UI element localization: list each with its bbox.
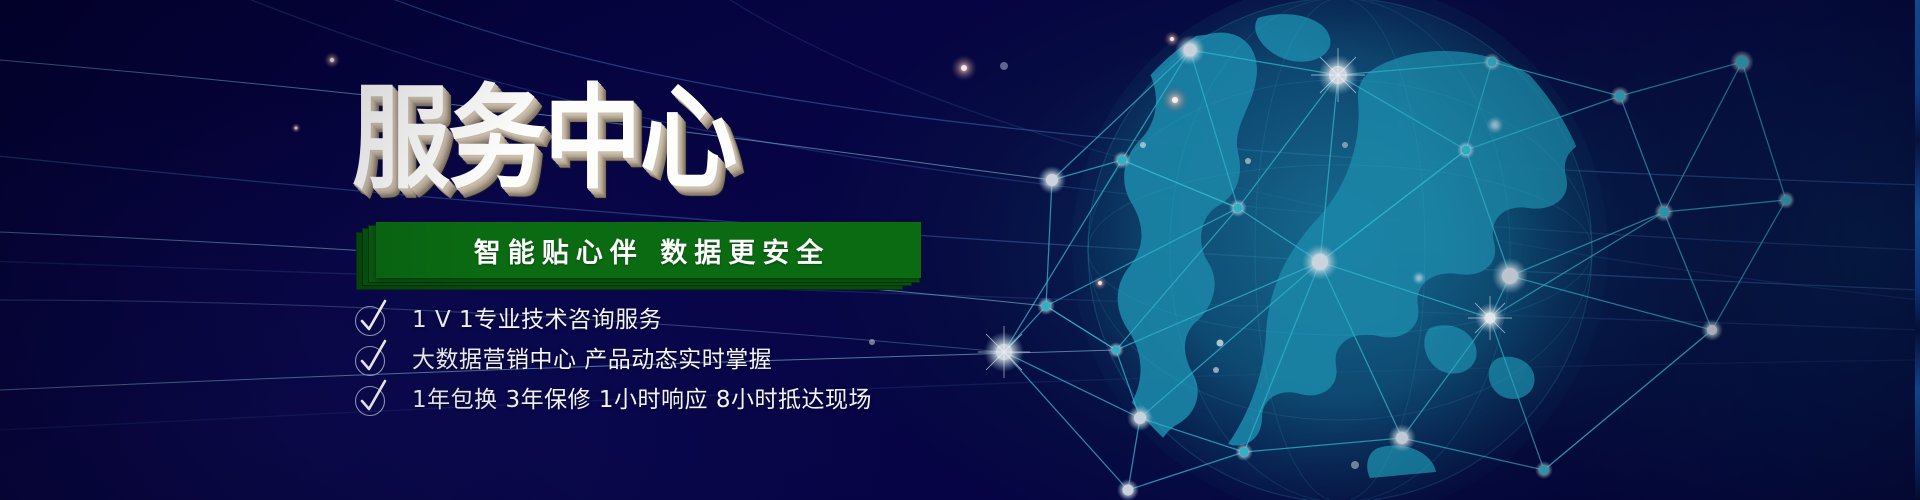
slogan-text: 智能贴心伴 数据更安全: [467, 231, 830, 270]
circled-check-icon: [356, 343, 390, 377]
list-item: 1 V 1专业技术咨询服务: [356, 300, 872, 340]
page-title: 服务中心: [352, 82, 736, 195]
circled-check-icon: [356, 383, 390, 417]
circled-check-icon: [356, 303, 390, 337]
list-item: 1年包换 3年保修 1小时响应 8小时抵达现场: [356, 380, 872, 420]
list-item-label: 1 V 1专业技术咨询服务: [412, 309, 662, 332]
list-item: 大数据营销中心 产品动态实时掌握: [356, 340, 872, 380]
banner-content: 服务中心 智能贴心伴 数据更安全 1 V 1专业技术咨询服务: [0, 0, 1000, 500]
feature-list: 1 V 1专业技术咨询服务 大数据营销中心 产品动态实时掌握: [356, 300, 872, 420]
edge-accent-strip: [1915, 0, 1920, 500]
service-center-banner: 服务中心 智能贴心伴 数据更安全 1 V 1专业技术咨询服务: [0, 0, 1920, 500]
radial-bars-region: [1500, 0, 1920, 500]
list-item-label: 1年包换 3年保修 1小时响应 8小时抵达现场: [412, 389, 872, 412]
slogan-bar: 智能贴心伴 数据更安全: [376, 222, 921, 278]
list-item-label: 大数据营销中心 产品动态实时掌握: [412, 349, 772, 372]
